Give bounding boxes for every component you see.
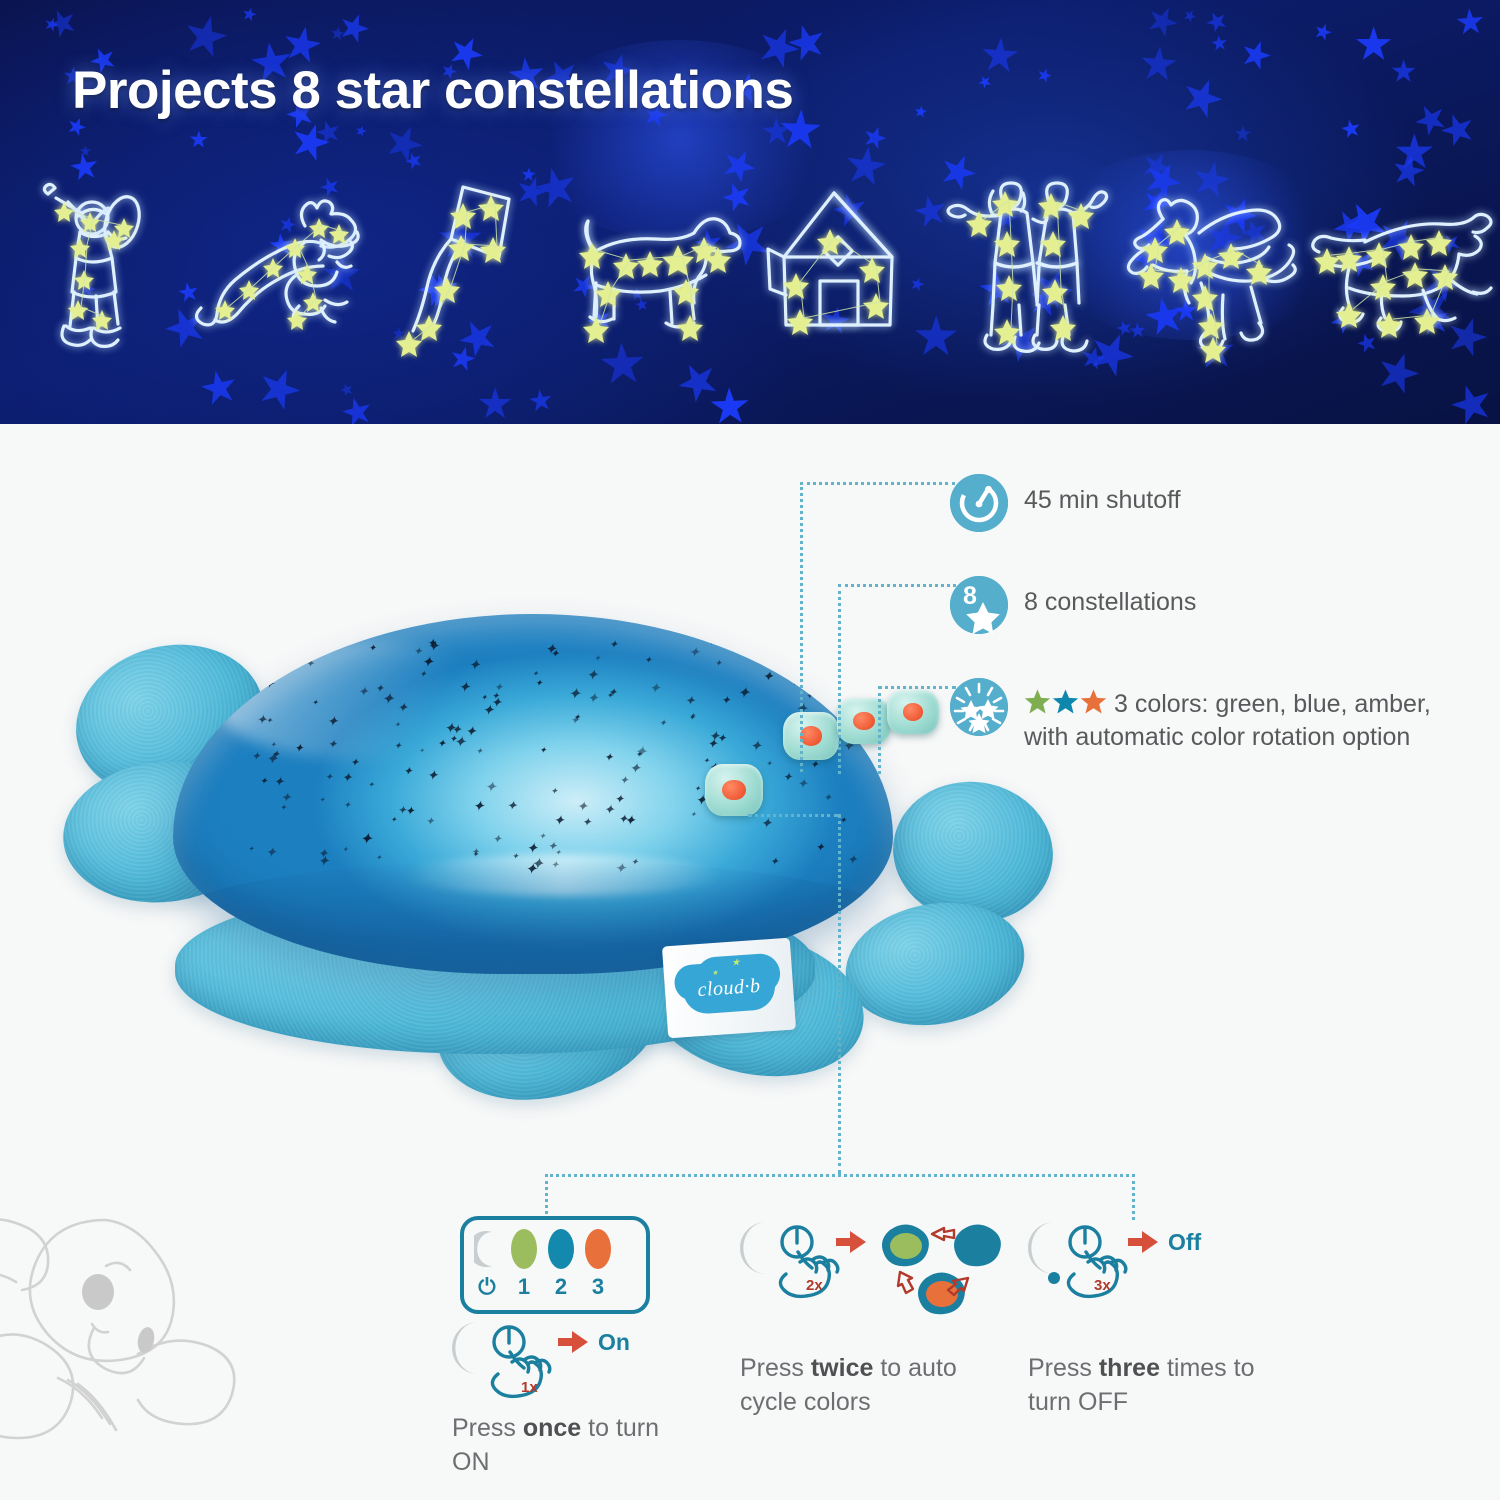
star-pinhole: ✦	[762, 670, 774, 684]
banner-star	[339, 393, 376, 424]
product-infographic: Projects 8 star constellations	[0, 0, 1500, 1500]
constellation-dog	[559, 165, 745, 365]
star-pinhole: ✦	[397, 701, 408, 714]
star-pinhole: ✦	[512, 852, 519, 861]
star-pinhole: ✦	[604, 753, 613, 764]
star-pinhole: ✦	[492, 833, 502, 845]
star-pinhole: ✦	[326, 714, 338, 728]
banner-star	[1311, 21, 1334, 44]
star-pinhole: ✦	[273, 638, 284, 651]
star-pinhole: ✦	[526, 842, 538, 857]
caption-pre: Press	[1028, 1354, 1099, 1382]
banner-star	[784, 19, 831, 66]
color-cycle-diagram	[882, 1224, 1001, 1314]
star-pinhole: ✦	[690, 811, 697, 819]
shell-button-power[interactable]	[705, 764, 763, 816]
control-panel-labels: ⏻ 1 2 3	[474, 1274, 611, 1300]
banner-star	[1181, 7, 1199, 25]
shell-button-1[interactable]	[783, 712, 839, 760]
banner-star	[334, 9, 373, 48]
banner-star	[240, 5, 258, 23]
star-pinhole: ✦	[823, 793, 832, 804]
star-pinhole: ✦	[468, 658, 481, 673]
banner-star	[1142, 1, 1183, 42]
caption-pre: Press	[740, 1354, 811, 1382]
connector-line	[878, 686, 881, 774]
star-pinhole: ✦	[368, 644, 376, 654]
star-pinhole: ✦	[551, 861, 559, 871]
star-pinhole: ✦	[260, 776, 268, 785]
banner-star	[79, 145, 92, 158]
green-turtle	[890, 1233, 922, 1259]
starburst-icon	[950, 678, 1008, 736]
caption-pre: Press	[452, 1414, 523, 1442]
button-indicator	[722, 780, 745, 801]
instruction-row: ⏻ 1 2 3 1x On	[0, 1194, 1500, 1494]
connector-line	[838, 584, 841, 774]
panel-color-2[interactable]	[548, 1229, 574, 1269]
banner-star	[329, 25, 347, 43]
blue-star	[1052, 689, 1079, 715]
connector-line	[838, 584, 956, 587]
star-pinhole: ✦	[419, 747, 425, 754]
star-pinhole: ✦	[481, 694, 488, 702]
star-pinhole: ✦	[688, 646, 700, 660]
star-pinhole: ✦	[376, 854, 383, 862]
banner-star	[1446, 379, 1498, 424]
star-pinhole: ✦	[737, 686, 750, 702]
star-pinhole: ✦	[271, 750, 280, 761]
star-pinhole: ✦	[659, 719, 667, 729]
button-indicator	[853, 712, 875, 730]
panel-label-1: 1	[511, 1274, 537, 1300]
result-label: On	[598, 1329, 630, 1355]
moon-icon	[474, 1229, 500, 1269]
star-pinhole: ✦	[644, 655, 652, 664]
star-pinhole: ✦	[788, 674, 801, 689]
power-symbol: ⏻	[474, 1274, 500, 1300]
banner-star	[1176, 72, 1228, 124]
star-pinhole: ✦	[390, 816, 396, 824]
press-twice-diagram: 2x	[740, 1216, 1010, 1346]
star-pinhole: ✦	[264, 677, 275, 690]
star-pinhole: ✦	[606, 691, 613, 699]
star-pinhole: ✦	[476, 747, 483, 756]
connector-line	[878, 686, 956, 689]
panel-color-1[interactable]	[511, 1229, 537, 1269]
press-three-diagram: 3x Off	[1028, 1216, 1268, 1346]
star-pinhole: ✦	[472, 800, 484, 815]
banner-star	[709, 386, 750, 424]
star-pinhole: ✦	[586, 668, 599, 683]
banner-star	[1391, 59, 1416, 84]
result-label: Off	[1168, 1229, 1202, 1255]
star-pinhole: ✦	[550, 787, 558, 796]
star-pinhole: ✦	[425, 817, 435, 828]
star-pinhole: ✦	[525, 862, 538, 877]
star-pinhole: ✦	[251, 751, 261, 763]
star-pinhole: ✦	[266, 717, 273, 725]
star-pinhole: ✦	[325, 773, 333, 783]
star-pinhole: ✦	[805, 692, 813, 702]
button-indicator	[903, 703, 924, 721]
star-pinhole: ✦	[721, 695, 731, 707]
banner-star	[338, 381, 355, 398]
green-star	[1024, 689, 1051, 715]
banner-star	[1339, 117, 1363, 141]
feature-label: 8 constellations	[1024, 576, 1196, 619]
star-pinhole: ✦	[547, 841, 557, 853]
star-pinhole: ✦	[248, 846, 254, 853]
blue-turtle	[954, 1224, 1001, 1266]
star-pinhole: ✦	[306, 660, 315, 670]
star-pinhole: ✦	[427, 768, 439, 782]
feature-label: 3 colors: green, blue, amber, with autom…	[1024, 678, 1476, 754]
star-pinhole: ✦	[280, 804, 287, 812]
star-pinhole: ✦	[458, 681, 470, 696]
panel-label-3: 3	[585, 1274, 611, 1300]
star-pinhole: ✦	[629, 762, 641, 776]
star-pinhole: ✦	[782, 771, 792, 783]
banner-star	[1455, 7, 1485, 37]
star-pinhole: ✦	[684, 694, 695, 707]
star-pinhole: ✦	[544, 643, 556, 658]
star-pinhole: ✦	[343, 801, 351, 810]
control-panel-diagram: ⏻ 1 2 3	[460, 1216, 650, 1314]
constellation-house	[746, 165, 932, 365]
banner-star	[913, 104, 928, 119]
star-pinhole: ✦	[778, 652, 789, 665]
page-title: Projects 8 star constellations	[72, 60, 793, 121]
constellation-orion-warrior	[0, 165, 186, 365]
star-pinhole: ✦	[465, 725, 477, 739]
star-pinhole: ✦	[634, 745, 647, 761]
star-pinhole: ✦	[492, 691, 500, 700]
feature-colors: 3 colors: green, blue, amber, with autom…	[950, 678, 1480, 754]
star-pinhole: ✦	[319, 797, 325, 804]
logo-star: ★	[731, 957, 741, 969]
banner-star	[1139, 45, 1179, 85]
connector-line	[838, 814, 841, 1174]
star-pinhole: ✦	[437, 739, 446, 750]
star-pinhole: ✦	[582, 817, 592, 829]
svg-text:8: 8	[963, 582, 977, 610]
star-pinhole: ✦	[294, 743, 304, 755]
feature-constellations: 8 8 constellations	[950, 576, 1196, 634]
star-pinhole: ✦	[251, 644, 261, 656]
star-pinhole: ✦	[421, 655, 434, 670]
banner-star	[179, 10, 232, 63]
caption-bold: twice	[811, 1354, 874, 1382]
star-pinhole: ✦	[717, 733, 727, 745]
panel-color-3[interactable]	[585, 1229, 611, 1269]
star-pinhole: ✦	[619, 776, 629, 787]
banner-star	[1355, 26, 1392, 63]
star-pinhole: ✦	[317, 847, 328, 860]
eight-star-icon: 8	[950, 576, 1008, 634]
star-pinhole: ✦	[760, 817, 772, 831]
press-count: 3x	[1094, 1277, 1111, 1294]
star-pinhole: ✦	[403, 766, 413, 778]
star-pinhole: ✦	[394, 721, 400, 729]
star-pinhole: ✦	[815, 843, 825, 855]
star-pinhole: ✦	[342, 846, 349, 854]
banner-star	[189, 130, 209, 150]
press-count: 2x	[806, 1277, 823, 1294]
caption-bold: once	[523, 1414, 581, 1442]
star-pinhole: ✦	[472, 850, 479, 858]
star-pinhole: ✦	[506, 799, 517, 812]
starry-banner: Projects 8 star constellations	[0, 0, 1500, 424]
star-pinhole: ✦	[766, 635, 773, 643]
star-pinhole: ✦	[614, 862, 626, 877]
star-pinhole: ✦	[797, 777, 808, 790]
banner-star	[527, 387, 553, 413]
star-pinhole: ✦	[539, 746, 546, 755]
star-pinhole: ✦	[749, 739, 762, 754]
timer-shutoff-icon	[950, 474, 1008, 532]
instruction-caption: Press twice to auto cycle colors	[740, 1352, 990, 1419]
banner-star	[1437, 108, 1480, 151]
connector-line	[545, 1174, 1135, 1177]
logo-star: ★	[712, 969, 719, 977]
banner-star	[1203, 7, 1232, 36]
feature-shutoff: 45 min shutoff	[950, 474, 1181, 532]
shell-button-2[interactable]	[837, 698, 891, 744]
star-pinhole: ✦	[265, 845, 277, 859]
banner-star	[1233, 125, 1252, 144]
instruction-caption: Press three times to turn OFF	[1028, 1352, 1278, 1419]
star-pinhole: ✦	[707, 738, 718, 751]
connector-line	[800, 482, 955, 485]
color-star-swatches	[1024, 689, 1108, 715]
cloud-logo: cloud·b ★ ★	[681, 961, 776, 1015]
star-pinhole: ✦	[327, 739, 337, 751]
star-pinhole: ✦	[576, 800, 588, 814]
banner-star	[354, 123, 369, 138]
constellation-kite	[373, 165, 559, 365]
turtle-shell-projector: ✦✦✦✦✦✦✦✦✦✦✦✦✦✦✦✦✦✦✦✦✦✦✦✦✦✦✦✦✦✦✦✦✦✦✦✦✦✦✦✦…	[173, 614, 893, 974]
caption-bold: three	[1099, 1354, 1160, 1382]
star-pinhole: ✦	[694, 785, 700, 793]
banner-star	[980, 35, 1020, 75]
star-pinhole: ✦	[714, 659, 722, 668]
main-panel: ✦✦✦✦✦✦✦✦✦✦✦✦✦✦✦✦✦✦✦✦✦✦✦✦✦✦✦✦✦✦✦✦✦✦✦✦✦✦✦✦…	[0, 424, 1500, 1500]
star-pinhole: ✦	[846, 853, 857, 866]
panel-label-2: 2	[548, 1274, 574, 1300]
connector-line	[748, 814, 838, 817]
star-pinhole: ✦	[631, 858, 639, 868]
star-pinhole: ✦	[587, 692, 599, 707]
connector-line	[800, 482, 803, 772]
star-pinhole: ✦	[368, 781, 374, 789]
constellation-pegasus	[1119, 165, 1305, 365]
star-pinhole: ✦	[532, 670, 538, 678]
star-pinhole: ✦	[609, 640, 618, 651]
banner-star	[976, 72, 995, 91]
banner-star	[1237, 36, 1275, 74]
product-photo-turtle: ✦✦✦✦✦✦✦✦✦✦✦✦✦✦✦✦✦✦✦✦✦✦✦✦✦✦✦✦✦✦✦✦✦✦✦✦✦✦✦✦…	[55, 584, 1045, 1144]
star-pinhole: ✦	[594, 654, 601, 663]
instruction-caption: Press once to turn ON	[452, 1412, 702, 1479]
star-pinhole: ✦	[273, 775, 284, 788]
star-pinhole: ✦	[484, 780, 497, 795]
brand-tag: cloud·b ★ ★	[662, 938, 796, 1039]
star-pinhole: ✦	[350, 758, 359, 769]
shell-button-3[interactable]	[887, 690, 939, 734]
star-pinhole: ✦	[394, 742, 402, 752]
star-pinhole: ✦	[810, 760, 819, 771]
star-pinhole: ✦	[570, 715, 580, 727]
feature-label: 45 min shutoff	[1024, 474, 1181, 517]
star-pinhole: ✦	[312, 699, 319, 707]
star-pinhole: ✦	[247, 674, 256, 685]
star-pinhole: ✦	[359, 832, 372, 848]
star-pinhole: ✦	[405, 805, 415, 817]
control-panel-buttons	[474, 1229, 611, 1269]
star-pinhole: ✦	[270, 741, 276, 748]
constellation-twins	[932, 165, 1118, 365]
banner-star	[198, 367, 241, 410]
press-once-diagram: 1x On	[452, 1316, 682, 1401]
star-pinhole: ✦	[688, 713, 695, 721]
star-pinhole: ✦	[568, 687, 581, 703]
amber-star	[1080, 689, 1107, 715]
banner-star	[1210, 34, 1228, 52]
constellation-bear	[1305, 165, 1500, 365]
star-pinhole: ✦	[375, 684, 384, 695]
constellation-draco-dragon	[186, 165, 372, 365]
constellation-row	[0, 160, 1500, 370]
star-pinhole: ✦	[603, 803, 614, 816]
brand-name: cloud·b	[682, 974, 775, 1003]
star-pinhole: ✦	[614, 793, 624, 805]
star-pinhole: ✦	[618, 813, 628, 825]
button-indicator	[800, 726, 822, 745]
star-pinhole: ✦	[482, 704, 494, 719]
star-pinhole: ✦	[766, 760, 773, 768]
star-pinhole: ✦	[553, 813, 565, 827]
banner-star	[860, 123, 890, 153]
star-pinhole: ✦	[341, 771, 352, 784]
star-pinhole: ✦	[419, 670, 427, 679]
star-pinhole: ✦	[708, 638, 716, 647]
press-count: 1x	[521, 1379, 538, 1396]
star-pinhole: ✦	[790, 640, 800, 652]
banner-star	[1409, 99, 1451, 141]
banner-star	[1035, 66, 1054, 85]
star-pinhole: ✦	[539, 832, 546, 841]
star-pinhole: ✦	[357, 685, 368, 698]
star-pinhole: ✦	[703, 757, 709, 765]
star-pinhole: ✦	[648, 682, 660, 697]
star-pinhole: ✦	[770, 857, 779, 868]
banner-star	[478, 387, 512, 421]
star-pinhole: ✦	[535, 679, 543, 688]
star-pinhole: ✦	[427, 640, 439, 655]
